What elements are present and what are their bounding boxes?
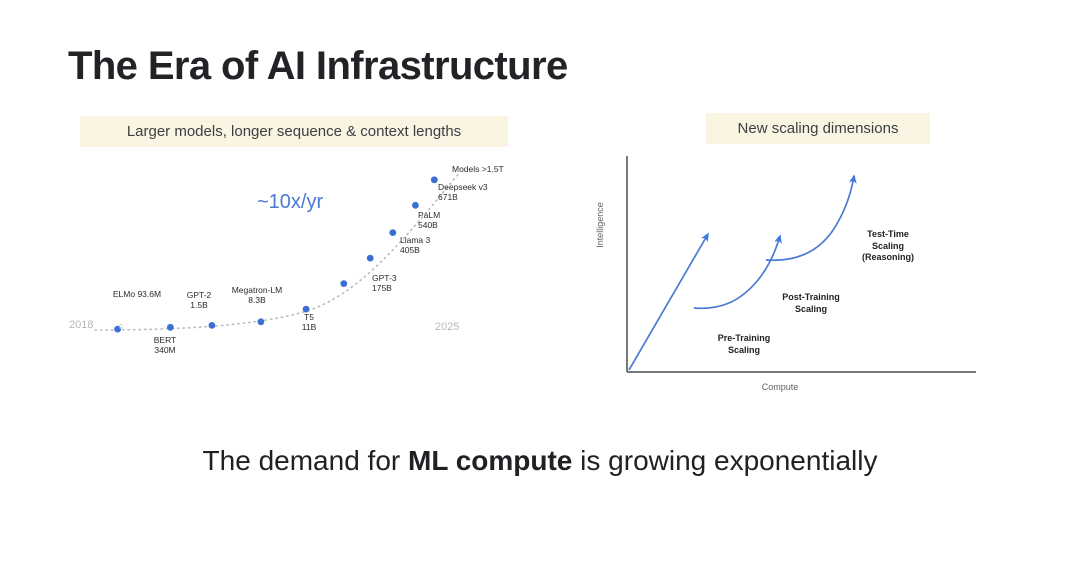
growth-rate-annotation: ~10x/yr: [257, 191, 323, 214]
data-point: [431, 176, 438, 183]
slide-canvas: The Era of AI Infrastructure Larger mode…: [0, 0, 1080, 568]
data-point: [340, 280, 347, 287]
test-time-scaling-label: Test-Time Scaling (Reasoning): [833, 229, 943, 264]
point-label-gpt3: GPT-3 175B: [372, 274, 428, 293]
point-label-llama3: Llama 3 405B: [400, 236, 460, 255]
left-panel-banner: Larger models, longer sequence & context…: [80, 116, 508, 147]
axis-year-start: 2018: [69, 319, 93, 331]
point-label-deepseek: Deepseek v3 671B: [438, 183, 518, 202]
caption-emphasis: ML compute: [408, 445, 572, 476]
scaling-dimensions-svg: [580, 140, 1000, 405]
caption-before: The demand for: [203, 445, 408, 476]
point-label-t5: T5 11B: [288, 313, 330, 332]
post-training-scaling-label: Post-Training Scaling: [756, 292, 866, 315]
data-point: [389, 229, 396, 236]
caption-after: is growing exponentially: [572, 445, 877, 476]
point-label-megatron: Megatron-LM 8.3B: [218, 286, 296, 305]
pre-training-scaling-label: Pre-Training Scaling: [694, 333, 794, 356]
point-label-palm: PaLM 540B: [418, 211, 470, 230]
y-axis-label: Intelligence: [595, 185, 605, 265]
point-label-future-models: Models >1.5T: [452, 165, 542, 175]
model-growth-chart: ELMo 93.6M BERT 340M GPT-2 1.5B Megatron…: [60, 150, 560, 365]
axis-origin-tick: 0: [119, 324, 123, 331]
axis-year-end: 2025: [435, 321, 459, 333]
scaling-dimensions-chart: Intelligence Compute Pre-Training Scalin…: [580, 140, 1000, 405]
data-point: [367, 255, 374, 262]
data-point: [258, 318, 265, 325]
data-point: [167, 324, 174, 331]
slide-caption: The demand for ML compute is growing exp…: [0, 445, 1080, 477]
data-point: [412, 202, 419, 209]
x-axis-label: Compute: [740, 382, 820, 392]
point-label-bert: BERT 340M: [139, 336, 191, 355]
data-point: [209, 322, 216, 329]
point-label-elmo: ELMo 93.6M: [94, 290, 180, 300]
page-title: The Era of AI Infrastructure: [68, 44, 568, 89]
